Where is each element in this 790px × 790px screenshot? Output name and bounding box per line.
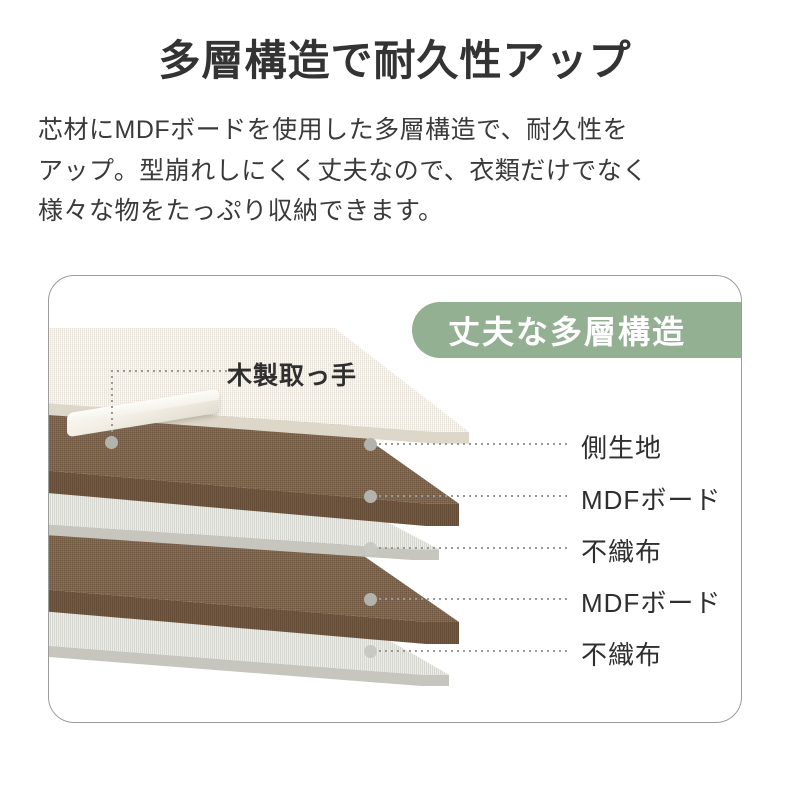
- handle-leader-vertical: [111, 370, 113, 442]
- description-line-2: アップ。型崩れしにくく丈夫なので、衣類だけでなく: [38, 151, 754, 192]
- layer-label-5: 不織布: [581, 635, 662, 672]
- page-title: 多層構造で耐久性アップ: [0, 36, 790, 86]
- handle-anchor-dot: [105, 436, 118, 449]
- description-line-3: 様々な物をたっぷり収納できます。: [38, 191, 754, 232]
- infographic-panel: 多層構造で耐久性アップ 芯材にMDFボードを使用した多層構造で、耐久性を アップ…: [0, 0, 790, 790]
- layer-label-1: 側生地: [581, 428, 662, 465]
- layer-dot-3: [364, 542, 377, 555]
- handle-leader-horizontal: [111, 370, 233, 372]
- layer-dot-1: [364, 438, 377, 451]
- diagram-card: 木製取っ手 側生地 MDFボード 不織布 MDFボード 不織布 丈夫な多層構造: [48, 275, 742, 723]
- layer-label-3: 不織布: [581, 532, 662, 569]
- layer-label-4: MDFボード: [581, 583, 721, 620]
- layer-dot-4: [364, 593, 377, 606]
- description-line-1: 芯材にMDFボードを使用した多層構造で、耐久性を: [38, 110, 754, 151]
- handle-callout-label: 木製取っ手: [227, 356, 357, 392]
- layer-leader-1: [379, 443, 571, 445]
- layer-dot-2: [364, 490, 377, 503]
- layer-leader-2: [379, 495, 571, 497]
- layer-dot-5: [364, 645, 377, 658]
- layer-leader-5: [379, 650, 571, 652]
- layer-leader-3: [379, 547, 571, 549]
- layer-leader-4: [379, 598, 571, 600]
- layer-label-2: MDFボード: [581, 480, 721, 517]
- feature-badge: 丈夫な多層構造: [412, 302, 742, 358]
- description-text: 芯材にMDFボードを使用した多層構造で、耐久性を アップ。型崩れしにくく丈夫なの…: [38, 110, 754, 232]
- feature-badge-label: 丈夫な多層構造: [448, 307, 686, 353]
